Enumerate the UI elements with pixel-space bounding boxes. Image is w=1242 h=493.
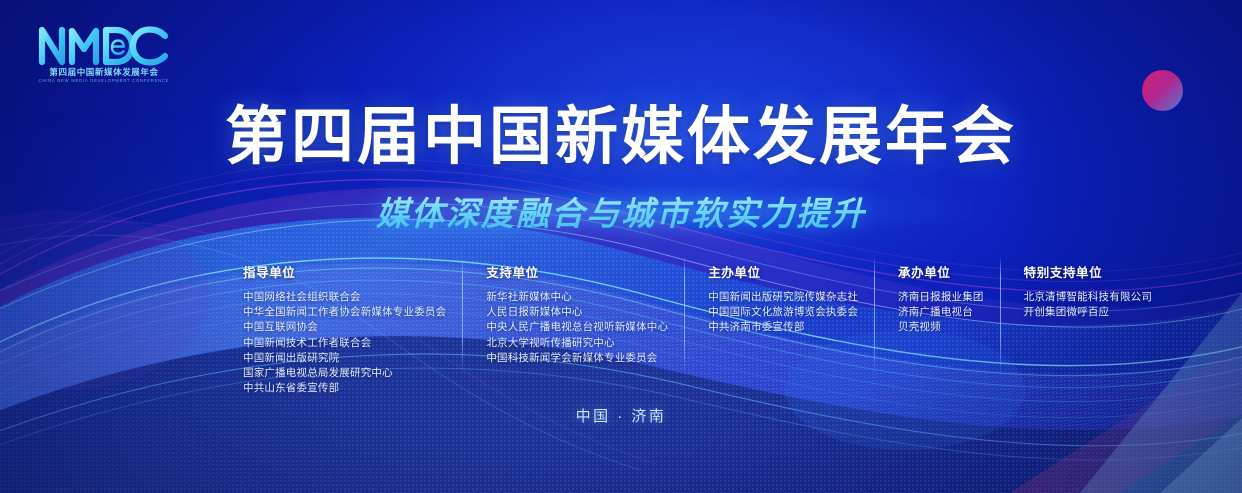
org-item: 中国网络社会组织联合会: [243, 290, 446, 305]
org-item: 北京清博智能科技有限公司: [1024, 290, 1152, 305]
org-column-heading: 指导单位: [243, 262, 446, 281]
org-column-heading: 主办单位: [708, 262, 858, 281]
org-item: 济南日报报业集团: [898, 290, 984, 305]
page-subtitle: 媒体深度融合与城市软实力提升: [376, 187, 866, 235]
org-item: 中国新闻技术工作者联合会: [243, 336, 446, 351]
org-column-support: 支持单位 新华社新媒体中心 人民日报新媒体中心 中央人民广播电视总台视听新媒体中…: [462, 262, 684, 366]
conference-poster: 第四届中国新媒体发展年会 CHINA NEW MEDIA DEVELOPMENT…: [0, 0, 1242, 493]
subtitle-row: 媒体深度融合与城市软实力提升: [0, 187, 1242, 235]
org-column-host: 主办单位 中国新闻出版研究院传媒杂志社 中国国际文化旅游博览会执委会 中共济南市…: [684, 262, 874, 336]
org-item: 中国科技新闻学会新媒体专业委员会: [486, 351, 668, 366]
logo-chinese-name: 第四届中国新媒体发展年会: [34, 68, 174, 78]
org-item: 中国新闻出版研究院传媒杂志社: [708, 290, 858, 305]
org-item: 北京大学视听传播研究中心: [486, 336, 668, 351]
org-item: 中共济南市委宣传部: [708, 320, 858, 335]
org-item: 中国互联网协会: [243, 320, 446, 335]
org-column-heading: 支持单位: [486, 262, 668, 281]
org-item: 国家广播电视总局发展研究中心: [243, 366, 446, 381]
org-column-guidance: 指导单位 中国网络社会组织联合会 中华全国新闻工作者协会新媒体专业委员会 中国互…: [243, 262, 462, 396]
event-location: 中国 · 济南: [0, 405, 1242, 426]
org-column-heading: 特别支持单位: [1024, 262, 1152, 281]
org-column-heading: 承办单位: [898, 262, 984, 281]
logo-english-name: CHINA NEW MEDIA DEVELOPMENT CONFERENCE: [37, 78, 171, 83]
hero-titles: 第四届中国新媒体发展年会 媒体深度融合与城市软实力提升: [0, 104, 1242, 235]
page-title: 第四届中国新媒体发展年会: [0, 104, 1242, 171]
org-column-special-support: 特别支持单位 北京清博智能科技有限公司 开创集团微呼百应: [1000, 262, 1168, 320]
org-item: 人民日报新媒体中心: [486, 305, 668, 320]
org-item: 中央人民广播电视总台视听新媒体中心: [486, 320, 668, 335]
org-item: 贝壳视频: [898, 320, 984, 335]
org-item: 开创集团微呼百应: [1024, 305, 1152, 320]
org-item: 新华社新媒体中心: [486, 290, 668, 305]
org-item: 中国国际文化旅游博览会执委会: [708, 305, 858, 320]
org-item: 济南广播电视台: [898, 305, 984, 320]
nmdc-monogram-icon: [34, 22, 174, 66]
organization-columns: 指导单位 中国网络社会组织联合会 中华全国新闻工作者协会新媒体专业委员会 中国互…: [243, 262, 1168, 396]
org-item: 中国新闻出版研究院: [243, 351, 446, 366]
org-item: 中共山东省委宣传部: [243, 381, 446, 396]
nmdc-logo: 第四届中国新媒体发展年会 CHINA NEW MEDIA DEVELOPMENT…: [34, 22, 174, 83]
org-item: 中华全国新闻工作者协会新媒体专业委员会: [243, 305, 446, 320]
org-column-organizer: 承办单位 济南日报报业集团 济南广播电视台 贝壳视频: [874, 262, 1000, 336]
